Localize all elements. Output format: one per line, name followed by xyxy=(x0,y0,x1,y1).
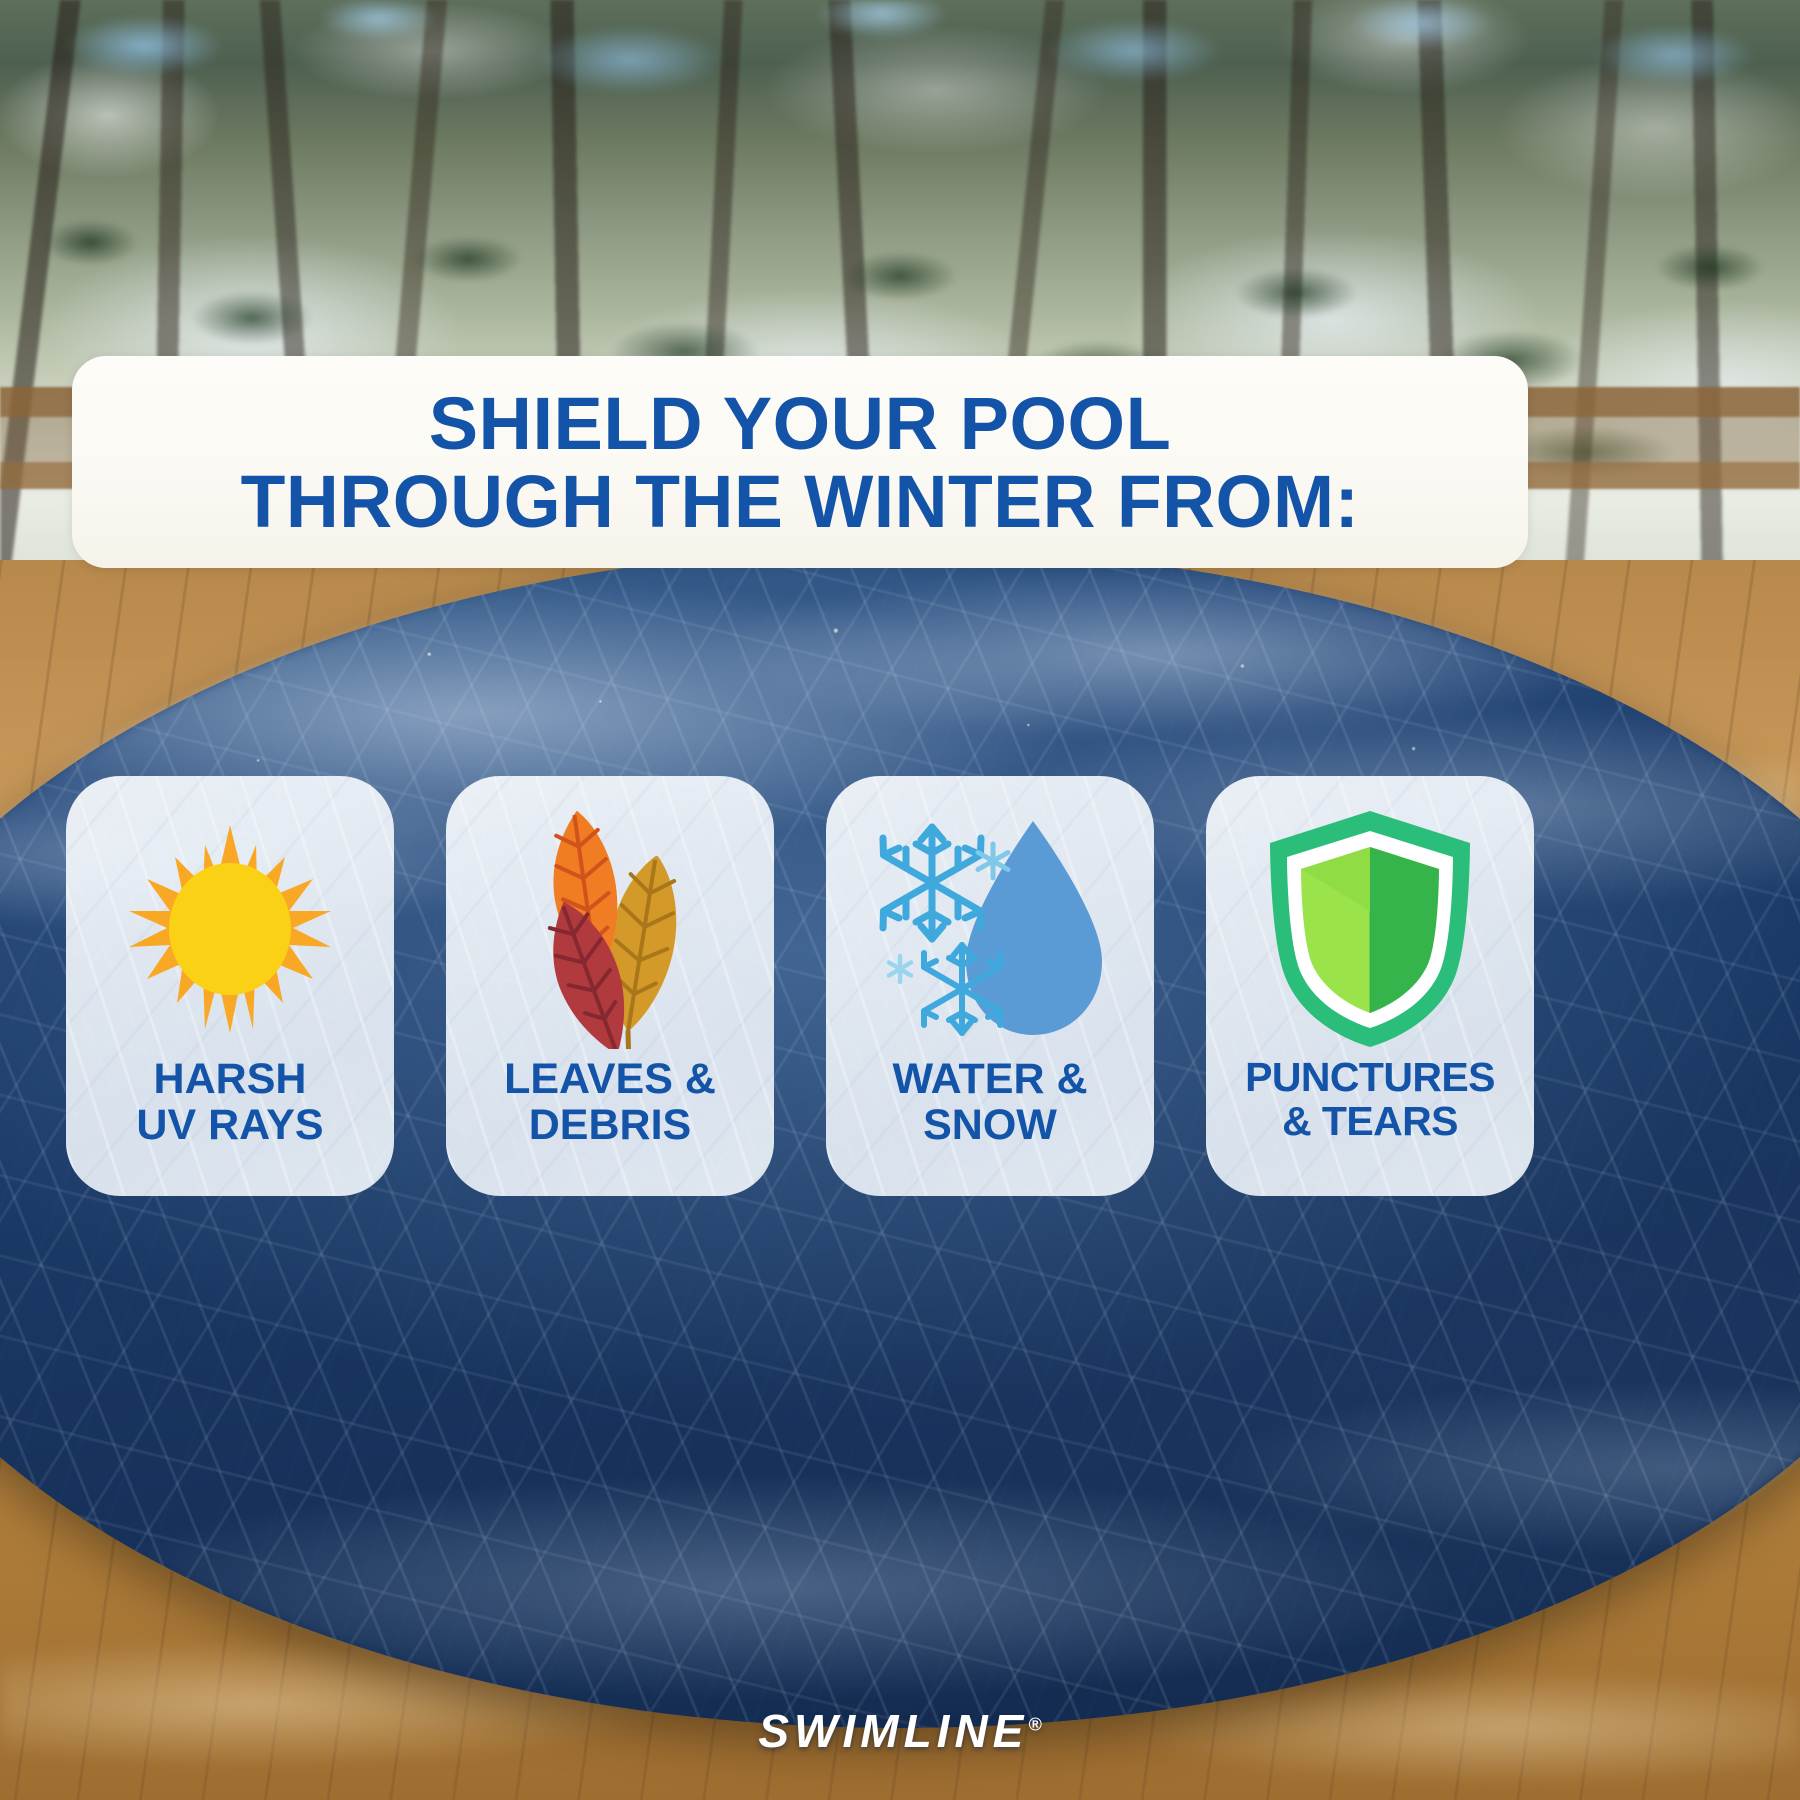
card-label-leaves-debris: LEAVES & DEBRIS xyxy=(504,1056,716,1148)
card-label-punctures-tears: PUNCTURES & TEARS xyxy=(1245,1056,1495,1144)
feature-card-water-snow[interactable]: WATER & SNOW xyxy=(826,776,1154,1196)
sun-icon xyxy=(66,804,394,1054)
leaves-icon xyxy=(446,804,774,1054)
shield-icon xyxy=(1206,804,1534,1054)
feature-card-uv-rays[interactable]: HARSH UV RAYS xyxy=(66,776,394,1196)
brand-name: SWIMLINE xyxy=(758,1705,1028,1757)
card-label-water-snow: WATER & SNOW xyxy=(892,1056,1087,1148)
swimline-logo: SWIMLINE® xyxy=(0,1704,1800,1758)
feature-card-row: HARSH UV RAYS xyxy=(66,776,1534,1196)
card-label-uv-rays: HARSH UV RAYS xyxy=(136,1056,323,1148)
water-snow-icon xyxy=(826,804,1154,1054)
headline-line-2: THROUGH THE WINTER FROM: xyxy=(241,463,1360,541)
headline-banner: SHIELD YOUR POOL THROUGH THE WINTER FROM… xyxy=(72,356,1528,568)
headline-line-1: SHIELD YOUR POOL xyxy=(429,386,1172,463)
registered-trademark-symbol: ® xyxy=(1028,1715,1041,1735)
feature-card-leaves-debris[interactable]: LEAVES & DEBRIS xyxy=(446,776,774,1196)
feature-card-punctures-tears[interactable]: PUNCTURES & TEARS xyxy=(1206,776,1534,1196)
